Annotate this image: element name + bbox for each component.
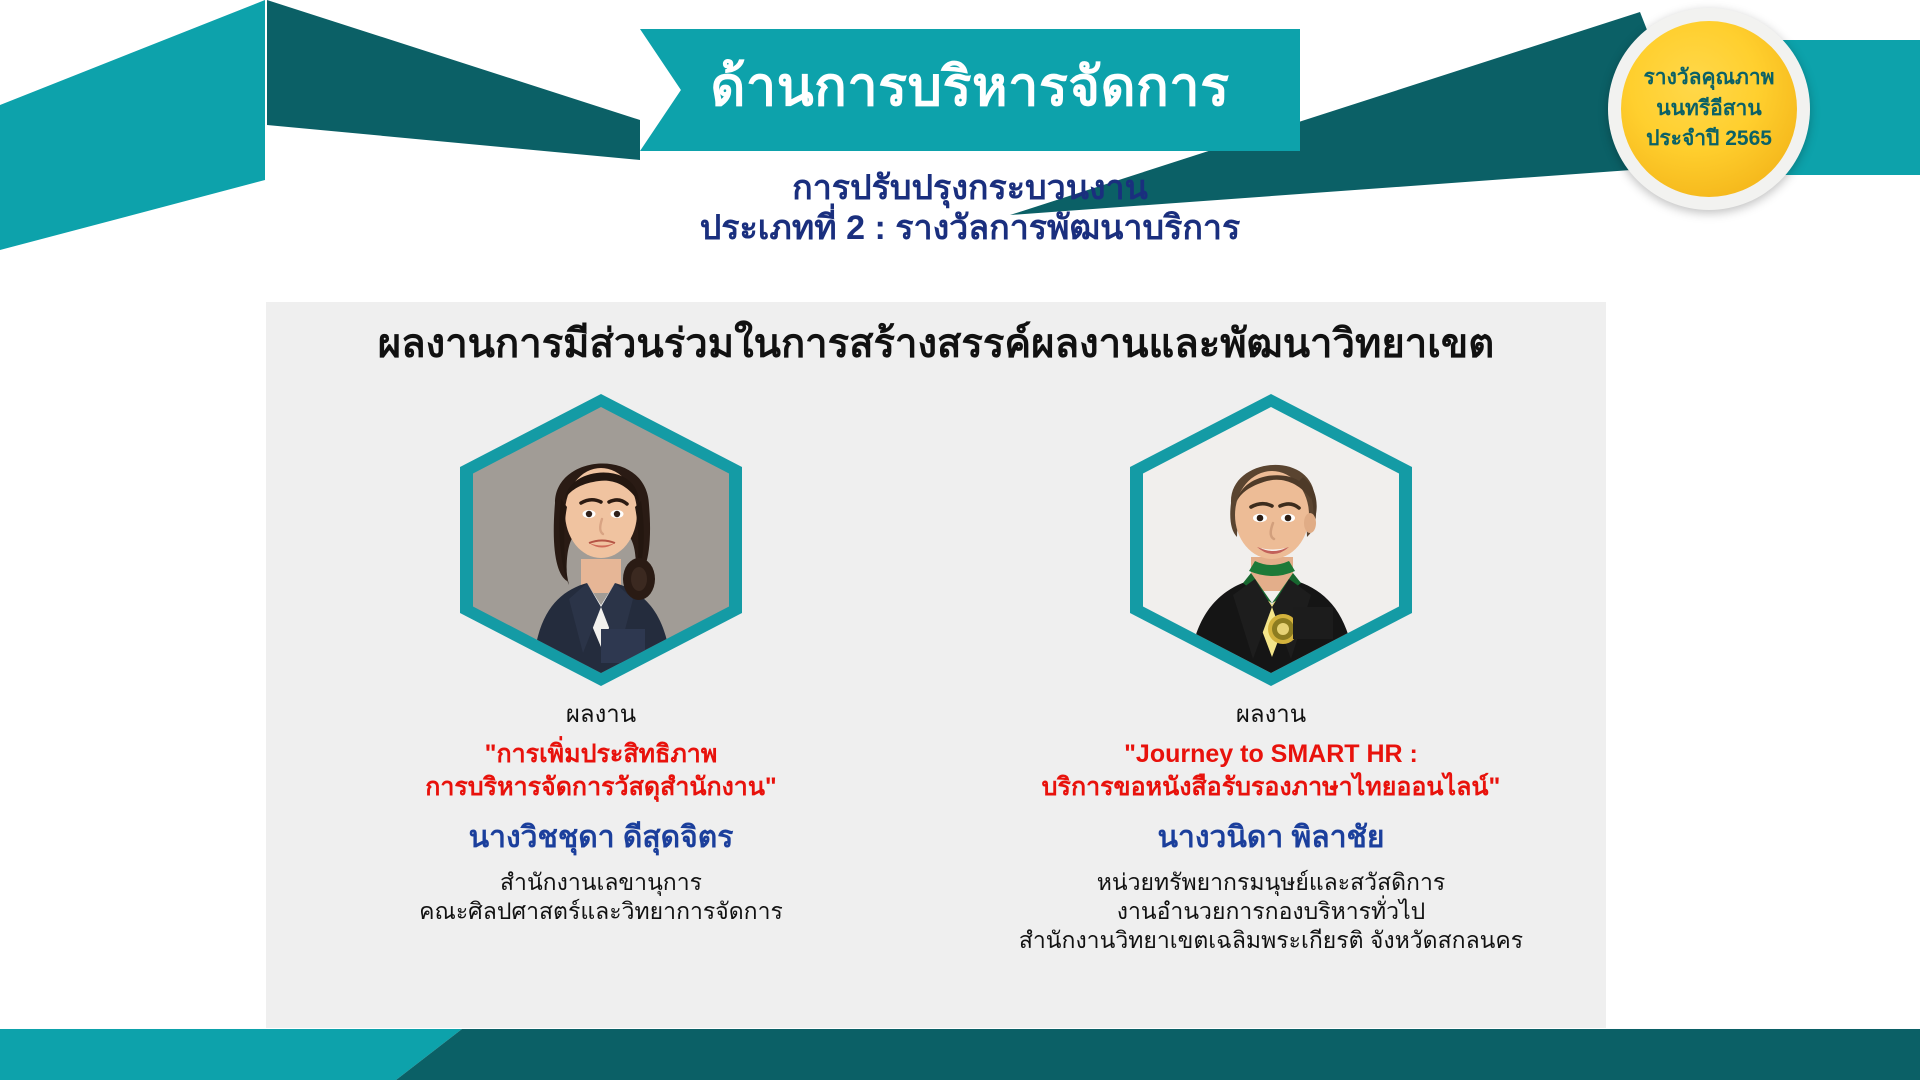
work-title: "Journey to SMART HR : บริการขอหนังสือรั… (1042, 738, 1501, 804)
ribbon-top-left-dark (267, 0, 640, 160)
affiliation-line-2: คณะศิลปศาสตร์และวิทยาการจัดการ (419, 897, 783, 926)
award-cards: ผลงาน "การเพิ่มประสิทธิภาพ การบริหารจัดก… (266, 394, 1606, 955)
award-seal-inner: รางวัลคุณภาพ นนทรีอีสาน ประจำปี 2565 (1621, 21, 1797, 197)
work-label: ผลงาน (566, 700, 636, 730)
subtitle-line-1: การปรับปรุงกระบวนงาน (560, 168, 1380, 208)
seal-line-3: ประจำปี 2565 (1646, 124, 1772, 154)
seal-line-2: นนทรีอีสาน (1656, 94, 1761, 124)
subtitle-block: การปรับปรุงกระบวนงาน ประเภทที่ 2 : รางวั… (560, 168, 1380, 248)
panel-title: ผลงานการมีส่วนร่วมในการสร้างสรรค์ผลงานแล… (266, 320, 1606, 368)
work-title: "การเพิ่มประสิทธิภาพ การบริหารจัดการวัสด… (425, 738, 777, 804)
award-card: ผลงาน "Journey to SMART HR : บริการขอหนั… (936, 394, 1606, 955)
affiliation-line-2: งานอำนวยการกองบริหารทั่วไป (1019, 897, 1523, 926)
content-panel: ผลงานการมีส่วนร่วมในการสร้างสรรค์ผลงานแล… (266, 302, 1606, 1028)
affiliation-line-1: หน่วยทรัพยากรมนุษย์และสวัสดิการ (1019, 868, 1523, 897)
footer-band-light (0, 1029, 462, 1080)
person-name: นางวิชชุดา ดีสุดจิตร (469, 820, 734, 856)
person-name: นางวนิดา พิลาชัย (1158, 820, 1385, 856)
banner-title: ด้านการบริหารจัดการ (640, 29, 1300, 151)
affiliation: สำนักงานเลขานุการ คณะศิลปศาสตร์และวิทยาก… (419, 868, 783, 926)
award-card: ผลงาน "การเพิ่มประสิทธิภาพ การบริหารจัดก… (266, 394, 936, 955)
ribbon-top-left-light (0, 0, 265, 250)
banner: ด้านการบริหารจัดการ (640, 29, 1300, 151)
slide-canvas: ด้านการบริหารจัดการ การปรับปรุงกระบวนงาน… (0, 0, 1920, 1080)
subtitle-line-2: ประเภทที่ 2 : รางวัลการพัฒนาบริการ (560, 208, 1380, 248)
award-seal-badge: รางวัลคุณภาพ นนทรีอีสาน ประจำปี 2565 (1608, 8, 1810, 210)
work-title-line-1: "การเพิ่มประสิทธิภาพ (425, 738, 777, 771)
hex-photo-frame (460, 394, 742, 686)
hex-photo-frame (1130, 394, 1412, 686)
work-title-line-2: บริการขอหนังสือรับรองภาษาไทยออนไลน์" (1042, 771, 1501, 804)
affiliation-line-3: สำนักงานวิทยาเขตเฉลิมพระเกียรติ จังหวัดส… (1019, 926, 1523, 955)
work-title-line-2: การบริหารจัดการวัสดุสำนักงาน" (425, 771, 777, 804)
seal-line-1: รางวัลคุณภาพ (1644, 63, 1775, 93)
affiliation-line-1: สำนักงานเลขานุการ (419, 868, 783, 897)
work-label: ผลงาน (1236, 700, 1306, 730)
work-title-line-1: "Journey to SMART HR : (1042, 738, 1501, 771)
footer-band-dark (396, 1029, 1920, 1080)
affiliation: หน่วยทรัพยากรมนุษย์และสวัสดิการ งานอำนวย… (1019, 868, 1523, 955)
